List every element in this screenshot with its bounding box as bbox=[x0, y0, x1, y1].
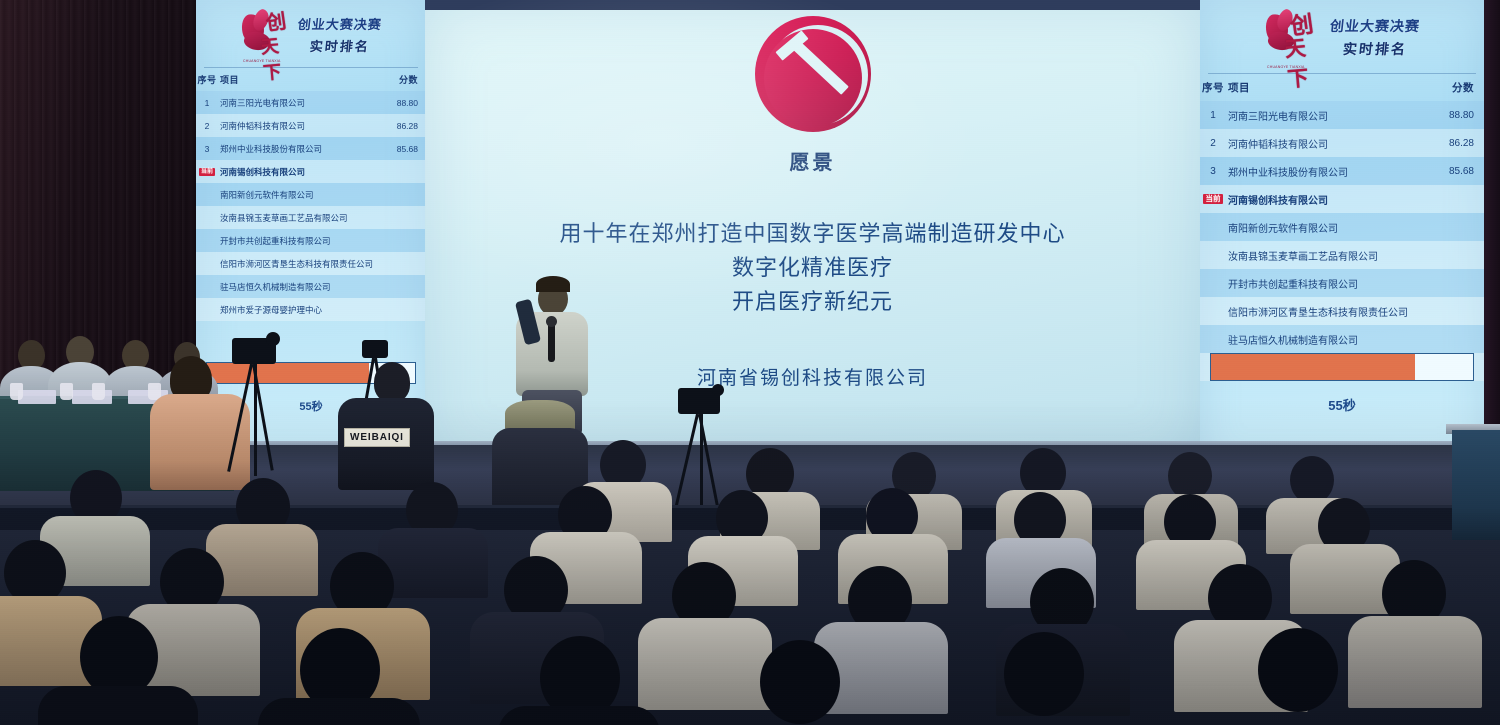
slide-logo-wrap bbox=[425, 16, 1200, 132]
brand-line-1-right: 创业大赛决赛 bbox=[1329, 16, 1421, 36]
project-score bbox=[1418, 241, 1484, 269]
ranking-header-row-right: 序号 项目 分数 bbox=[1200, 74, 1484, 101]
ranking-row: 3郑州中业科技股份有限公司85.68 bbox=[196, 137, 426, 160]
rank-number bbox=[196, 183, 218, 206]
timer-box-right: 55秒 bbox=[1210, 353, 1474, 414]
current-badge: 当前 bbox=[199, 168, 215, 176]
ranking-row: 1河南三阳光电有限公司88.80 bbox=[1200, 101, 1484, 129]
current-badge: 当前 bbox=[1203, 194, 1223, 205]
project-name: 河南三阳光电有限公司 bbox=[1226, 101, 1418, 129]
project-score bbox=[372, 298, 426, 321]
water-cup bbox=[92, 383, 105, 400]
project-name: 开封市共创起重科技有限公司 bbox=[1226, 269, 1418, 297]
water-cup bbox=[60, 383, 73, 400]
ranking-table-left: 序号 项目 分数 1河南三阳光电有限公司88.802河南仲韬科技有限公司86.2… bbox=[196, 68, 426, 321]
project-name: 郑州中业科技股份有限公司 bbox=[1226, 157, 1418, 185]
ranking-row: 南阳新创元软件有限公司 bbox=[1200, 213, 1484, 241]
brand-line-2: 实时排名 bbox=[297, 36, 383, 55]
ranking-row: 2河南仲韬科技有限公司86.28 bbox=[1200, 129, 1484, 157]
rank-number: 2 bbox=[1200, 129, 1226, 157]
ranking-row: 开封市共创起重科技有限公司 bbox=[196, 229, 426, 252]
ranking-row: 南阳新创元软件有限公司 bbox=[196, 183, 426, 206]
ranking-row: 开封市共创起重科技有限公司 bbox=[1200, 269, 1484, 297]
ranking-row: 当前河南锡创科技有限公司 bbox=[196, 160, 426, 183]
lectern bbox=[1452, 430, 1500, 540]
project-score bbox=[1418, 325, 1484, 353]
col-header-no-right: 序号 bbox=[1200, 74, 1226, 101]
project-score: 85.68 bbox=[372, 137, 426, 160]
ranking-row: 郑州市爱子源母婴护理中心 bbox=[196, 298, 426, 321]
ranking-header-row: 序号 项目 分数 bbox=[196, 68, 426, 91]
rank-number bbox=[1200, 241, 1226, 269]
project-name: 郑州中业科技股份有限公司 bbox=[218, 137, 372, 160]
rank-number: 3 bbox=[1200, 157, 1226, 185]
timer-seconds-right: 55秒 bbox=[1210, 395, 1474, 414]
project-name: 汝南县锦玉麦草画工艺品有限公司 bbox=[218, 206, 372, 229]
col-header-no: 序号 bbox=[196, 68, 218, 91]
current-badge-cell: 当前 bbox=[1200, 185, 1226, 213]
judge-paper bbox=[18, 390, 56, 404]
ranking-body-right: 1河南三阳光电有限公司88.802河南仲韬科技有限公司86.283郑州中业科技股… bbox=[1200, 101, 1484, 381]
current-badge-cell: 当前 bbox=[196, 160, 218, 183]
ranking-row: 汝南县锦玉麦草画工艺品有限公司 bbox=[1200, 241, 1484, 269]
rank-number bbox=[196, 298, 218, 321]
rank-number: 1 bbox=[196, 91, 218, 114]
project-name: 郑州市爱子源母婴护理中心 bbox=[218, 298, 372, 321]
timer-progress-fill bbox=[207, 363, 369, 383]
chuangtianxia-seal-icon-right: 创 天下 CHUANGYE TIANXIA bbox=[1264, 6, 1324, 68]
seal-char-tianxia-right: 天下 bbox=[1283, 30, 1326, 93]
seal-char-tianxia: 天下 bbox=[260, 31, 294, 85]
seal-latin-subtitle-right: CHUANGYE TIANXIA bbox=[1267, 65, 1305, 69]
project-name: 开封市共创起重科技有限公司 bbox=[218, 229, 372, 252]
project-score: 88.80 bbox=[372, 91, 426, 114]
project-name: 汝南县锦玉麦草画工艺品有限公司 bbox=[1226, 241, 1418, 269]
project-name: 河南仲韬科技有限公司 bbox=[218, 114, 372, 137]
ranking-row: 信阳市浉河区青垦生态科技有限责任公司 bbox=[196, 252, 426, 275]
rank-number: 3 bbox=[196, 137, 218, 160]
vest-label: WEIBAIQI bbox=[344, 428, 410, 447]
ranking-row: 汝南县锦玉麦草画工艺品有限公司 bbox=[196, 206, 426, 229]
project-score bbox=[1418, 269, 1484, 297]
project-score bbox=[1418, 185, 1484, 213]
rank-number: 2 bbox=[196, 114, 218, 137]
ranking-table-right: 序号 项目 分数 1河南三阳光电有限公司88.802河南仲韬科技有限公司86.2… bbox=[1200, 74, 1484, 381]
seal-latin-subtitle: CHUANGYE TIANXIA bbox=[243, 59, 281, 63]
project-score bbox=[372, 183, 426, 206]
project-score bbox=[1418, 213, 1484, 241]
rank-number bbox=[1200, 213, 1226, 241]
col-header-score-right: 分数 bbox=[1418, 74, 1484, 101]
chuangtianxia-seal-icon: 创 天下 CHUANGYE TIANXIA bbox=[240, 6, 292, 62]
project-name: 河南锡创科技有限公司 bbox=[1226, 185, 1418, 213]
project-name: 驻马店恒久机械制造有限公司 bbox=[218, 275, 372, 298]
project-score bbox=[1418, 297, 1484, 325]
timer-progress-bar-right bbox=[1210, 353, 1474, 381]
stage-curtain-right bbox=[1484, 0, 1500, 470]
rank-number bbox=[196, 206, 218, 229]
rank-number bbox=[1200, 297, 1226, 325]
project-score: 88.80 bbox=[1418, 101, 1484, 129]
timer-progress-fill-right bbox=[1211, 354, 1415, 380]
microphone bbox=[548, 322, 555, 362]
slide-title: 愿景 bbox=[425, 146, 1200, 175]
ranking-row: 信阳市浉河区青垦生态科技有限责任公司 bbox=[1200, 297, 1484, 325]
project-name: 信阳市浉河区青垦生态科技有限责任公司 bbox=[218, 252, 372, 275]
project-score bbox=[372, 252, 426, 275]
rank-number bbox=[196, 275, 218, 298]
ranking-row: 2河南仲韬科技有限公司86.28 bbox=[196, 114, 426, 137]
col-header-score: 分数 bbox=[372, 68, 426, 91]
project-name: 驻马店恒久机械制造有限公司 bbox=[1226, 325, 1418, 353]
ranking-panel-right: 创 天下 CHUANGYE TIANXIA 创业大赛决赛 实时排名 序号 项目 … bbox=[1200, 0, 1484, 470]
project-name: 河南三阳光电有限公司 bbox=[218, 91, 372, 114]
ranking-panel-left-header: 创 天下 CHUANGYE TIANXIA 创业大赛决赛 实时排名 bbox=[196, 0, 426, 62]
project-score bbox=[372, 229, 426, 252]
project-name: 南阳新创元软件有限公司 bbox=[218, 183, 372, 206]
project-score: 86.28 bbox=[1418, 129, 1484, 157]
ranking-body-left: 1河南三阳光电有限公司88.802河南仲韬科技有限公司86.283郑州中业科技股… bbox=[196, 91, 426, 321]
ranking-row: 驻马店恒久机械制造有限公司 bbox=[196, 275, 426, 298]
project-score bbox=[372, 275, 426, 298]
rank-number bbox=[196, 229, 218, 252]
water-cup bbox=[10, 383, 23, 400]
rank-number bbox=[196, 252, 218, 275]
project-name: 南阳新创元软件有限公司 bbox=[1226, 213, 1418, 241]
brand-line-2-right: 实时排名 bbox=[1329, 39, 1421, 59]
project-name: 河南锡创科技有限公司 bbox=[218, 160, 372, 183]
project-name: 河南仲韬科技有限公司 bbox=[1226, 129, 1418, 157]
slide-body-line-1: 用十年在郑州打造中国数字医学高端制造研发中心 bbox=[425, 218, 1200, 252]
project-score bbox=[372, 206, 426, 229]
company-logo-icon bbox=[755, 16, 871, 132]
project-score: 85.68 bbox=[1418, 157, 1484, 185]
ranking-row: 3郑州中业科技股份有限公司85.68 bbox=[1200, 157, 1484, 185]
project-score: 86.28 bbox=[372, 114, 426, 137]
conference-hall-photo: 创 天下 CHUANGYE TIANXIA 创业大赛决赛 实时排名 序号 项目 … bbox=[0, 0, 1500, 725]
ranking-row: 驻马店恒久机械制造有限公司 bbox=[1200, 325, 1484, 353]
ranking-row: 1河南三阳光电有限公司88.80 bbox=[196, 91, 426, 114]
rank-number bbox=[1200, 269, 1226, 297]
brand-line-1: 创业大赛决赛 bbox=[297, 14, 383, 33]
project-score bbox=[372, 160, 426, 183]
ranking-row: 当前河南锡创科技有限公司 bbox=[1200, 185, 1484, 213]
ranking-panel-right-header: 创 天下 CHUANGYE TIANXIA 创业大赛决赛 实时排名 bbox=[1200, 0, 1484, 68]
rank-number: 1 bbox=[1200, 101, 1226, 129]
col-header-name: 项目 bbox=[218, 68, 372, 91]
rank-number bbox=[1200, 325, 1226, 353]
project-name: 信阳市浉河区青垦生态科技有限责任公司 bbox=[1226, 297, 1418, 325]
